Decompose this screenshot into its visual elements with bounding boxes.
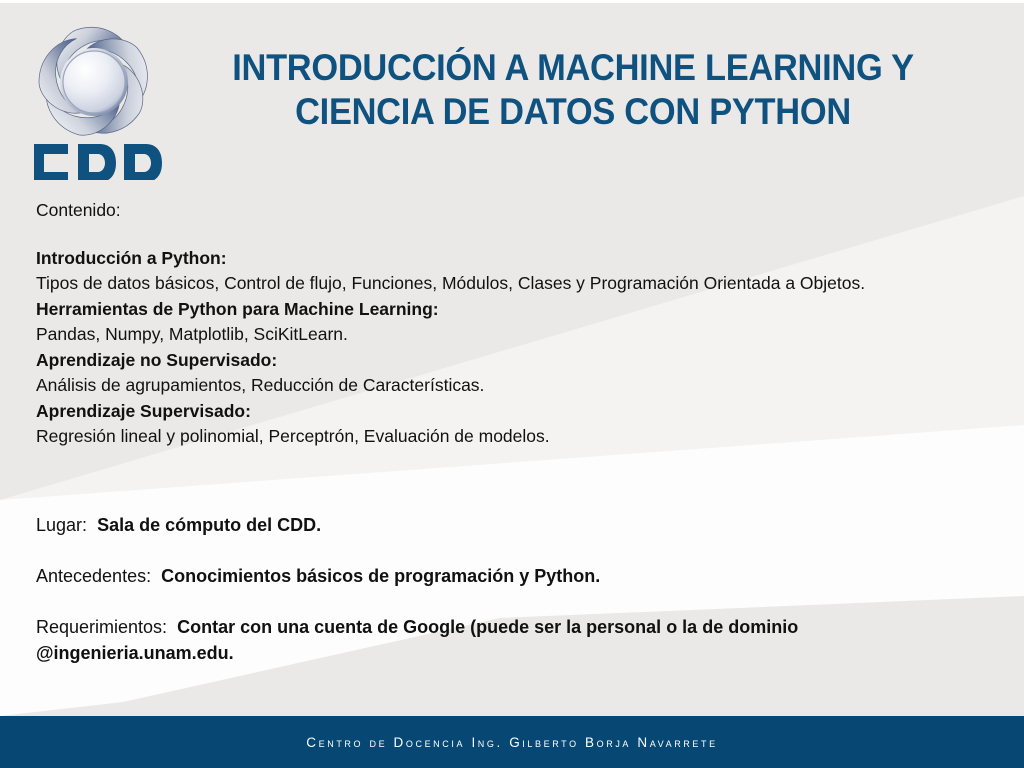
content-intro-label: Contenido: bbox=[36, 198, 996, 224]
section-heading: Introducción a Python: bbox=[36, 246, 996, 272]
detail-row-requerimientos: Requerimientos: Contar con una cuenta de… bbox=[36, 614, 986, 666]
section-heading: Aprendizaje Supervisado: bbox=[36, 399, 996, 425]
content-section: Aprendizaje no Supervisado: Análisis de … bbox=[36, 348, 996, 399]
detail-label: Requerimientos: bbox=[36, 617, 167, 637]
section-heading: Herramientas de Python para Machine Lear… bbox=[36, 297, 996, 323]
section-body: Regresión lineal y polinomial, Perceptró… bbox=[36, 424, 996, 450]
detail-value: Conocimientos básicos de programación y … bbox=[161, 566, 600, 586]
title-line-1: INTRODUCCIÓN A MACHINE LEARNING Y bbox=[206, 46, 941, 90]
top-edge-strip bbox=[0, 0, 1024, 3]
footer-bar: Centro de Docencia Ing. Gilberto Borja N… bbox=[0, 716, 1024, 768]
section-body: Pandas, Numpy, Matplotlib, SciKitLearn. bbox=[36, 322, 996, 348]
logo-core bbox=[60, 48, 128, 116]
logo-wordmark bbox=[34, 144, 162, 180]
detail-row-antecedentes: Antecedentes: Conocimientos básicos de p… bbox=[36, 563, 986, 589]
content-gap bbox=[36, 224, 996, 246]
slide-title: INTRODUCCIÓN A MACHINE LEARNING Y CIENCI… bbox=[178, 46, 968, 134]
section-heading: Aprendizaje no Supervisado: bbox=[36, 348, 996, 374]
section-body: Análisis de agrupamientos, Reducción de … bbox=[36, 373, 996, 399]
section-body: Tipos de datos básicos, Control de flujo… bbox=[36, 271, 996, 297]
footer-text: Centro de Docencia Ing. Gilberto Borja N… bbox=[0, 716, 1024, 768]
content-section: Introducción a Python: Tipos de datos bá… bbox=[36, 246, 996, 297]
title-line-2: CIENCIA DE DATOS CON PYTHON bbox=[206, 90, 941, 134]
cdd-logo bbox=[20, 12, 168, 180]
content-block: Contenido: Introducción a Python: Tipos … bbox=[36, 198, 996, 450]
detail-label: Antecedentes: bbox=[36, 566, 151, 586]
content-section: Herramientas de Python para Machine Lear… bbox=[36, 297, 996, 348]
detail-label: Lugar: bbox=[36, 515, 87, 535]
content-section: Aprendizaje Supervisado: Regresión linea… bbox=[36, 399, 996, 450]
slide-canvas: INTRODUCCIÓN A MACHINE LEARNING Y CIENCI… bbox=[0, 0, 1024, 768]
detail-row-lugar: Lugar: Sala de cómputo del CDD. bbox=[36, 512, 986, 538]
detail-value: Sala de cómputo del CDD. bbox=[97, 515, 321, 535]
details-block: Lugar: Sala de cómputo del CDD. Antecede… bbox=[36, 512, 986, 666]
content-sections: Introducción a Python: Tipos de datos bá… bbox=[36, 246, 996, 450]
